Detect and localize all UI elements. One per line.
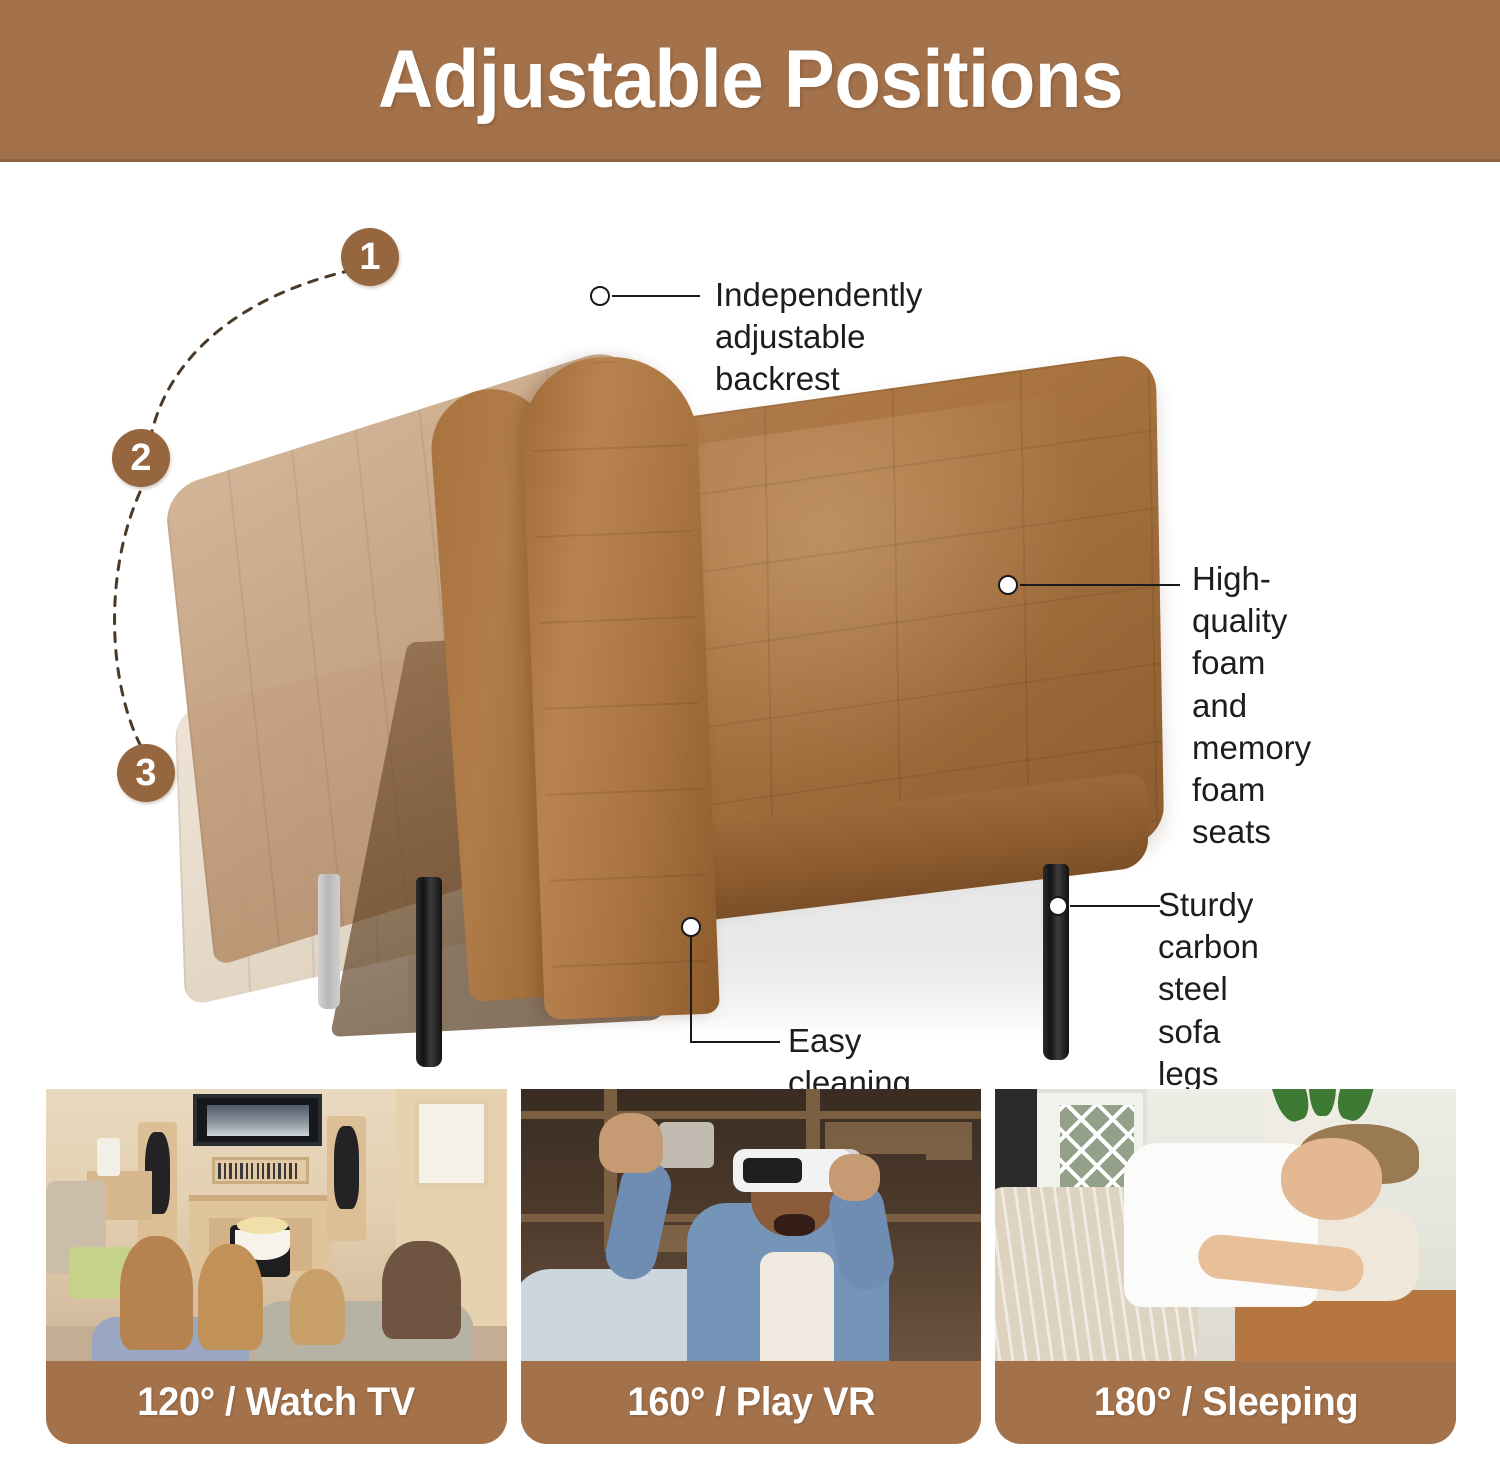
header-banner: Adjustable Positions xyxy=(0,0,1500,162)
callout-dot-foam xyxy=(998,575,1018,595)
position-badge-2[interactable]: 2 xyxy=(112,429,170,487)
page-title: Adjustable Positions xyxy=(378,39,1123,121)
infographic-page: Adjustable Positions 1 2 xyxy=(0,0,1500,1458)
callout-label-backrest: Independently adjustable backrest xyxy=(715,274,922,401)
panel-watch-tv[interactable]: 120° / Watch TV xyxy=(46,1089,507,1444)
sofa-leg-front-left xyxy=(416,877,442,1067)
panel-sleeping[interactable]: 180° / Sleeping xyxy=(995,1089,1456,1444)
callout-label-foam: High-quality foam and memory foam seats xyxy=(1192,558,1311,854)
panel-caption-text-watch-tv: 120° / Watch TV xyxy=(137,1380,415,1425)
hero-product-section: 1 2 3 Independently adjustable backrest … xyxy=(0,162,1500,1087)
panel-caption-sleeping: 180° / Sleeping xyxy=(995,1361,1456,1444)
callout-dot-cleaning xyxy=(681,917,701,937)
panel-play-vr[interactable]: 160° / Play VR xyxy=(521,1089,982,1444)
leader-line-legs xyxy=(1070,905,1160,907)
sofa-leg-ghost xyxy=(318,874,340,1009)
leader-line-foam xyxy=(1020,584,1180,586)
usage-scenario-panels: 120° / Watch TV xyxy=(46,1089,1456,1444)
position-badge-1[interactable]: 1 xyxy=(341,228,399,286)
panel-caption-text-play-vr: 160° / Play VR xyxy=(627,1380,875,1425)
callout-dot-legs xyxy=(1048,896,1068,916)
position-badge-3[interactable]: 3 xyxy=(117,744,175,802)
leader-line-cleaning-vertical xyxy=(690,937,692,1042)
leader-line-cleaning-horizontal xyxy=(690,1041,780,1043)
callout-dot-backrest xyxy=(590,286,610,306)
panel-photo-watch-tv xyxy=(46,1089,507,1361)
panel-caption-text-sleeping: 180° / Sleeping xyxy=(1093,1380,1357,1425)
panel-photo-play-vr xyxy=(521,1089,982,1361)
sofa-leg-front-right xyxy=(1043,864,1069,1060)
callout-label-legs: Sturdy carbon steel sofa legs xyxy=(1158,884,1259,1095)
panel-caption-watch-tv: 120° / Watch TV xyxy=(46,1361,507,1444)
panel-photo-sleeping xyxy=(995,1089,1456,1361)
panel-caption-play-vr: 160° / Play VR xyxy=(521,1361,982,1444)
leader-line-backrest xyxy=(612,295,700,297)
